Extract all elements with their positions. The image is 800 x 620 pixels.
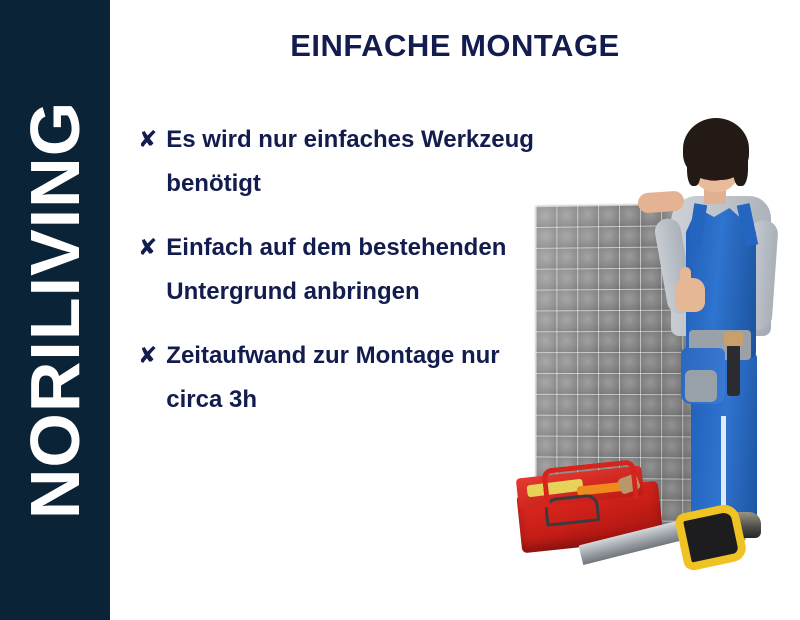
cross-mark-icon: ✘ [138,334,157,378]
brand-band: NORILIVING [0,0,110,620]
list-item: ✘ Es wird nur einfaches Werkzeug benötig… [138,118,550,206]
tool-pouch [681,348,725,404]
thumbs-up-hand-icon [675,278,705,312]
benefits-list: ✘ Es wird nur einfaches Werkzeug benötig… [138,118,550,442]
worker-hair-side [733,144,748,186]
benefit-text: Zeitaufwand zur Montage nur circa 3h [166,334,550,422]
poster-root: NORILIVING EINFACHE MONTAGE ✘ Es wird nu… [0,0,800,620]
belt-hammer-icon [727,344,740,396]
handsaw [579,508,729,574]
list-item: ✘ Einfach auf dem bestehenden Untergrund… [138,226,550,314]
cross-mark-icon: ✘ [138,118,157,162]
worker-hand-on-panel [637,190,684,213]
benefit-text: Es wird nur einfaches Werkzeug benötigt [166,118,550,206]
brand-name: NORILIVING [20,101,90,519]
cross-mark-icon: ✘ [138,226,157,270]
list-item: ✘ Zeitaufwand zur Montage nur circa 3h [138,334,550,422]
product-photo [495,0,800,620]
content-area: EINFACHE MONTAGE ✘ Es wird nur einfaches… [110,0,800,620]
benefit-text: Einfach auf dem bestehenden Untergrund a… [166,226,550,314]
